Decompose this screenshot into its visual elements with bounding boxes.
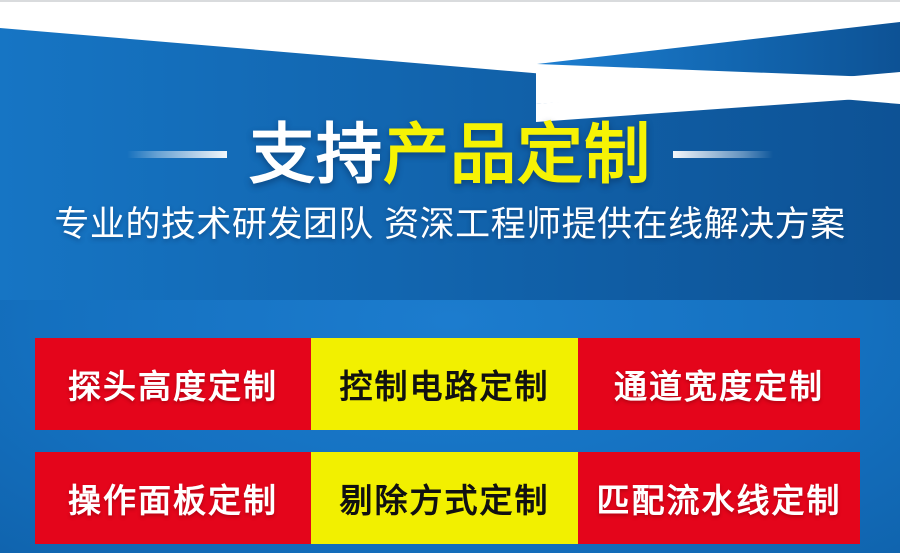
feature-tag-control-panel[interactable]: 操作面板定制 — [35, 452, 311, 544]
headline-rule-right — [673, 151, 773, 158]
feature-tag-grid: 探头高度定制 控制电路定制 通道宽度定制 操作面板定制 剔除方式定制 匹配流水线… — [35, 338, 860, 544]
feature-tag-production-line-match[interactable]: 匹配流水线定制 — [578, 452, 860, 544]
feature-tag-rejection-method[interactable]: 剔除方式定制 — [311, 452, 578, 544]
feature-tag-channel-width[interactable]: 通道宽度定制 — [578, 338, 860, 430]
page-title: 支持产品定制 — [249, 121, 651, 187]
feature-tag-row: 操作面板定制 剔除方式定制 匹配流水线定制 — [35, 452, 860, 544]
top-hairline — [0, 0, 900, 2]
headline-rule-left — [127, 151, 227, 158]
headline-text-white: 支持 — [249, 117, 383, 191]
subtitle: 专业的技术研发团队 资深工程师提供在线解决方案 — [0, 204, 900, 246]
headline-text-accent: 产品定制 — [383, 117, 651, 191]
feature-tag-control-circuit[interactable]: 控制电路定制 — [311, 338, 578, 430]
feature-tag-probe-height[interactable]: 探头高度定制 — [35, 338, 311, 430]
headline-block: 支持产品定制 — [0, 108, 900, 200]
feature-tag-row: 探头高度定制 控制电路定制 通道宽度定制 — [35, 338, 860, 430]
promo-banner: 支持产品定制 专业的技术研发团队 资深工程师提供在线解决方案 探头高度定制 控制… — [0, 0, 900, 553]
